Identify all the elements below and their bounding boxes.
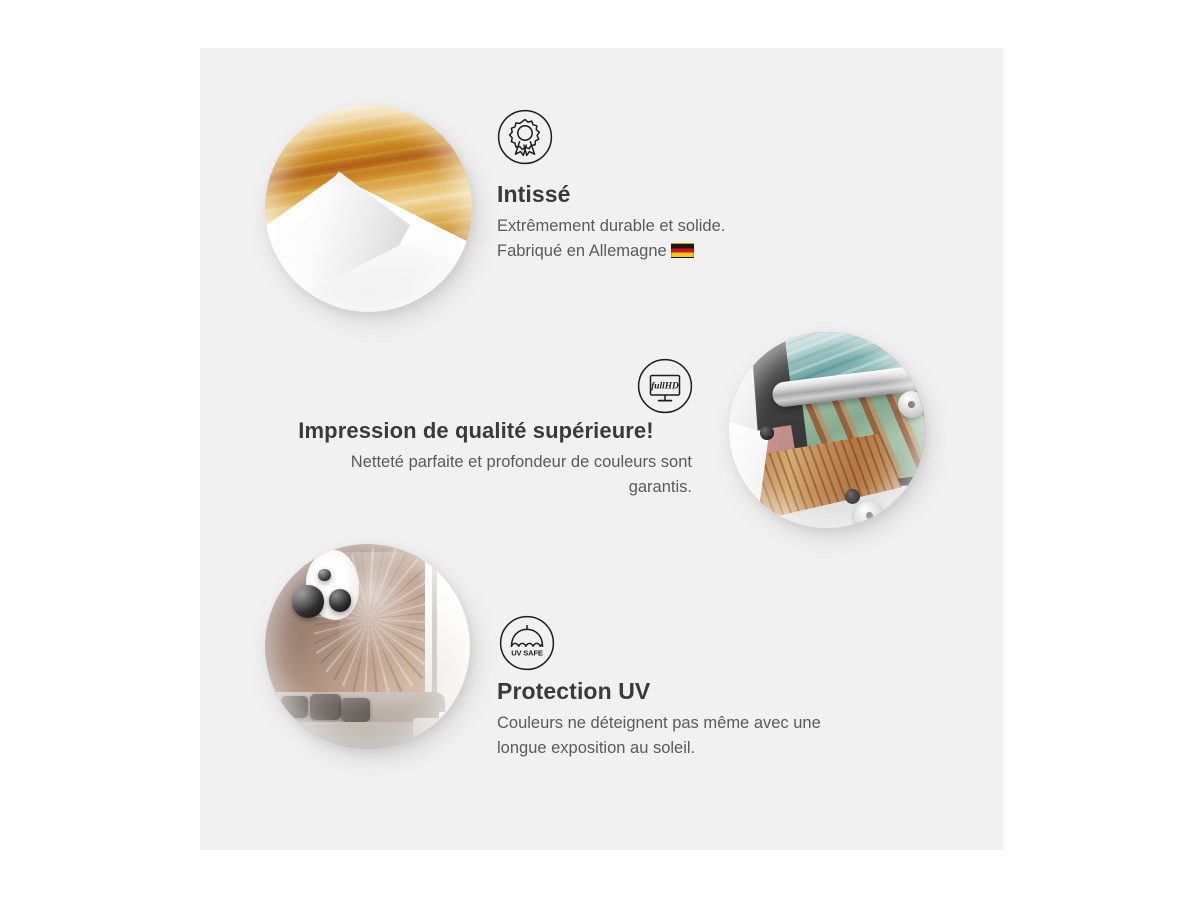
feature-body-line1: Couleurs ne déteignent pas même avec une: [497, 714, 821, 732]
interior-geometric-mural-photo: [265, 544, 470, 749]
feature-body-intisse: Extrêmement durable et solide. Fabriqué …: [497, 214, 897, 263]
feature-body-impression: Netteté parfaite et profondeur de couleu…: [260, 450, 692, 499]
feature-body-line2: longue exposition au soleil.: [497, 739, 695, 757]
feature-text-protection-uv: Protection UV Couleurs ne déteignent pas…: [497, 678, 917, 760]
feature-title-intisse: Intissé: [497, 181, 897, 207]
feature-body-line2: garantis.: [629, 478, 692, 496]
uv-safe-label: UV SAFE: [511, 649, 543, 658]
feature-title-protection-uv: Protection UV: [497, 678, 917, 704]
feature-body-line2: Fabriqué en Allemagne: [497, 242, 667, 260]
feature-body-line1: Netteté parfaite et profondeur de couleu…: [351, 453, 692, 471]
uv-safe-umbrella-icon: UV SAFE: [499, 615, 555, 671]
feature-title-impression: Impression de qualité supérieure!: [260, 418, 692, 443]
feature-text-impression: Impression de qualité supérieure! Nettet…: [260, 418, 692, 499]
german-flag-icon: [671, 243, 694, 258]
feature-text-intisse: Intissé Extrêmement durable et solide. F…: [497, 181, 897, 263]
feature-body-line1: Extrêmement durable et solide.: [497, 217, 725, 235]
feature-panel: Intissé Extrêmement durable et solide. F…: [200, 48, 1003, 850]
large-format-printer-photo: [729, 332, 925, 528]
feature-body-protection-uv: Couleurs ne déteignent pas même avec une…: [497, 711, 917, 760]
fullhd-monitor-icon: fullHD: [637, 358, 693, 414]
peeling-wallpaper-roll-photo: [265, 105, 472, 312]
award-rosette-icon: [497, 109, 553, 165]
fullhd-label: fullHD: [651, 382, 679, 392]
